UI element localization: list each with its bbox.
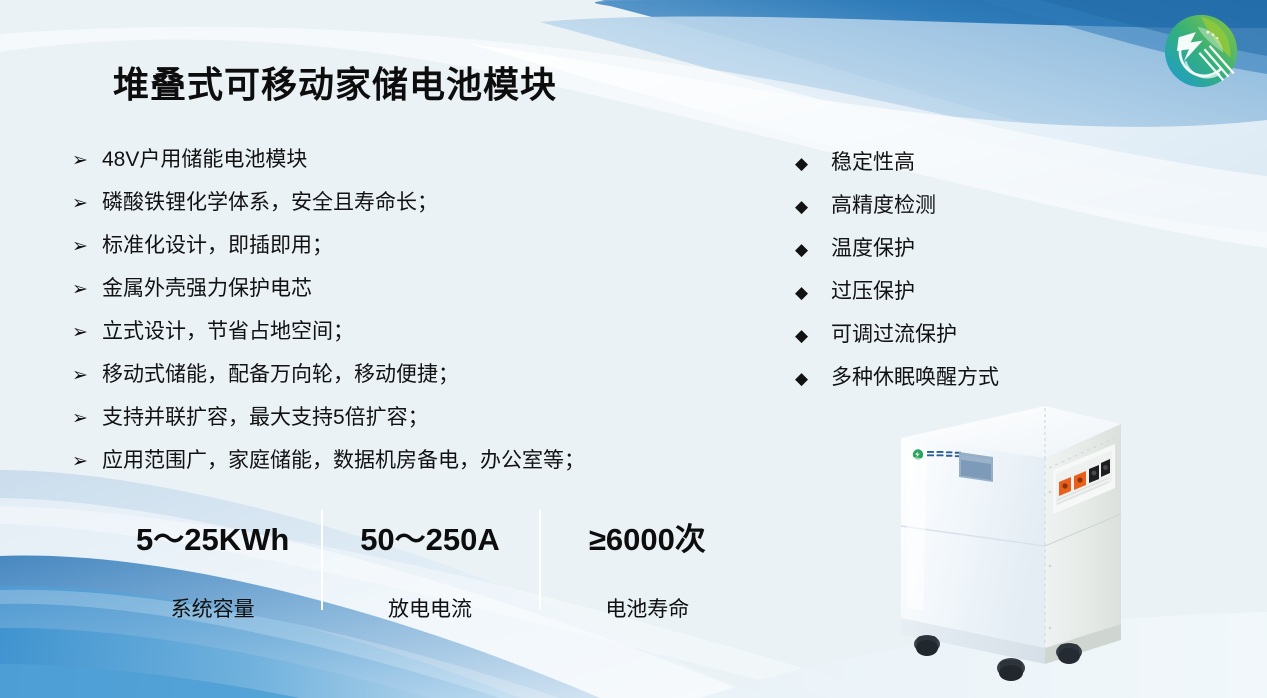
list-item: ➢ 立式设计，节省占地空间； <box>72 321 732 364</box>
list-item: ➢ 金属外壳强力保护电芯 <box>72 278 732 321</box>
product-image-battery-cabinet <box>893 396 1125 684</box>
diamond-bullet-icon: ◆ <box>795 241 831 258</box>
arrow-bullet-icon: ➢ <box>72 409 102 428</box>
arrow-bullet-icon: ➢ <box>72 323 102 342</box>
diamond-bullet-icon: ◆ <box>795 284 831 301</box>
caster-wheel-icon <box>1056 643 1082 664</box>
diamond-bullet-icon: ◆ <box>795 327 831 344</box>
list-item-label: 标准化设计，即插即用； <box>102 235 333 256</box>
stat-value: 5～25KWh <box>136 514 289 559</box>
list-item-label: 移动式储能，配备万向轮，移动便捷； <box>102 364 459 385</box>
stat-value: ≥6000次 <box>589 514 706 559</box>
page-title: 堆叠式可移动家储电池模块 <box>113 56 557 108</box>
stat-cycle-life: ≥6000次 电池寿命 <box>539 508 756 612</box>
list-item-label: 立式设计，节省占地空间； <box>102 321 354 342</box>
battery-cabinet-illustration <box>893 396 1125 684</box>
caster-wheel-icon <box>914 635 940 656</box>
list-item-label: 48V户用储能电池模块 <box>102 149 307 170</box>
list-item-label: 金属外壳强力保护电芯 <box>102 278 312 299</box>
arrow-bullet-icon: ➢ <box>72 366 102 385</box>
list-item: ◆ 稳定性高 <box>795 152 1095 195</box>
stat-capacity: 5～25KWh 系统容量 <box>104 508 321 612</box>
list-item: ➢ 移动式储能，配备万向轮，移动便捷； <box>72 364 732 407</box>
arrow-bullet-icon: ➢ <box>72 237 102 256</box>
stat-label: 放电电流 <box>388 593 472 623</box>
spec-stats-row: 5～25KWh 系统容量 50～250A 放电电流 ≥6000次 电池寿命 <box>104 508 756 612</box>
list-item: ➢ 应用范围广，家庭储能，数据机房备电，办公室等； <box>72 450 732 493</box>
list-item: ◆ 可调过流保护 <box>795 324 1095 367</box>
company-logo-icon <box>1158 8 1244 94</box>
list-item: ➢ 支持并联扩容，最大支持5倍扩容； <box>72 407 732 450</box>
feature-list-right: ◆ 稳定性高 ◆ 高精度检测 ◆ 温度保护 ◆ 过压保护 ◆ 可调过流保护 ◆ … <box>795 152 1095 410</box>
list-item-label: 支持并联扩容，最大支持5倍扩容； <box>102 407 429 428</box>
diamond-bullet-icon: ◆ <box>795 155 831 172</box>
diamond-bullet-icon: ◆ <box>795 370 831 387</box>
arrow-bullet-icon: ➢ <box>72 194 102 213</box>
stat-value: 50～250A <box>360 514 500 559</box>
lcd-display-panel <box>959 452 993 482</box>
list-item-label: 多种休眠唤醒方式 <box>831 367 999 388</box>
presentation-slide: 堆叠式可移动家储电池模块 ➢ 48V户用储能电池模块 ➢ 磷酸铁锂化学体系，安全… <box>0 0 1267 698</box>
company-logo <box>1158 8 1244 94</box>
list-item: ➢ 标准化设计，即插即用； <box>72 235 732 278</box>
list-item-label: 高精度检测 <box>831 195 936 216</box>
list-item-label: 温度保护 <box>831 238 915 259</box>
list-item-label: 应用范围广，家庭储能，数据机房备电，办公室等； <box>102 450 585 471</box>
arrow-bullet-icon: ➢ <box>72 452 102 471</box>
stat-label: 系统容量 <box>171 593 255 623</box>
list-item-label: 稳定性高 <box>831 152 915 173</box>
list-item: ◆ 温度保护 <box>795 238 1095 281</box>
caster-wheel-icon <box>997 658 1025 681</box>
list-item-label: 可调过流保护 <box>831 324 957 345</box>
list-item: ➢ 48V户用储能电池模块 <box>72 149 732 192</box>
list-item: ◆ 高精度检测 <box>795 195 1095 238</box>
list-item: ➢ 磷酸铁锂化学体系，安全且寿命长； <box>72 192 732 235</box>
arrow-bullet-icon: ➢ <box>72 151 102 170</box>
list-item-label: 磷酸铁锂化学体系，安全且寿命长； <box>102 192 438 213</box>
stat-discharge-current: 50～250A 放电电流 <box>321 508 538 612</box>
diamond-bullet-icon: ◆ <box>795 198 831 215</box>
list-item-label: 过压保护 <box>831 281 915 302</box>
arrow-bullet-icon: ➢ <box>72 280 102 299</box>
stat-label: 电池寿命 <box>605 593 689 623</box>
feature-list-left: ➢ 48V户用储能电池模块 ➢ 磷酸铁锂化学体系，安全且寿命长； ➢ 标准化设计… <box>72 149 732 493</box>
list-item: ◆ 过压保护 <box>795 281 1095 324</box>
